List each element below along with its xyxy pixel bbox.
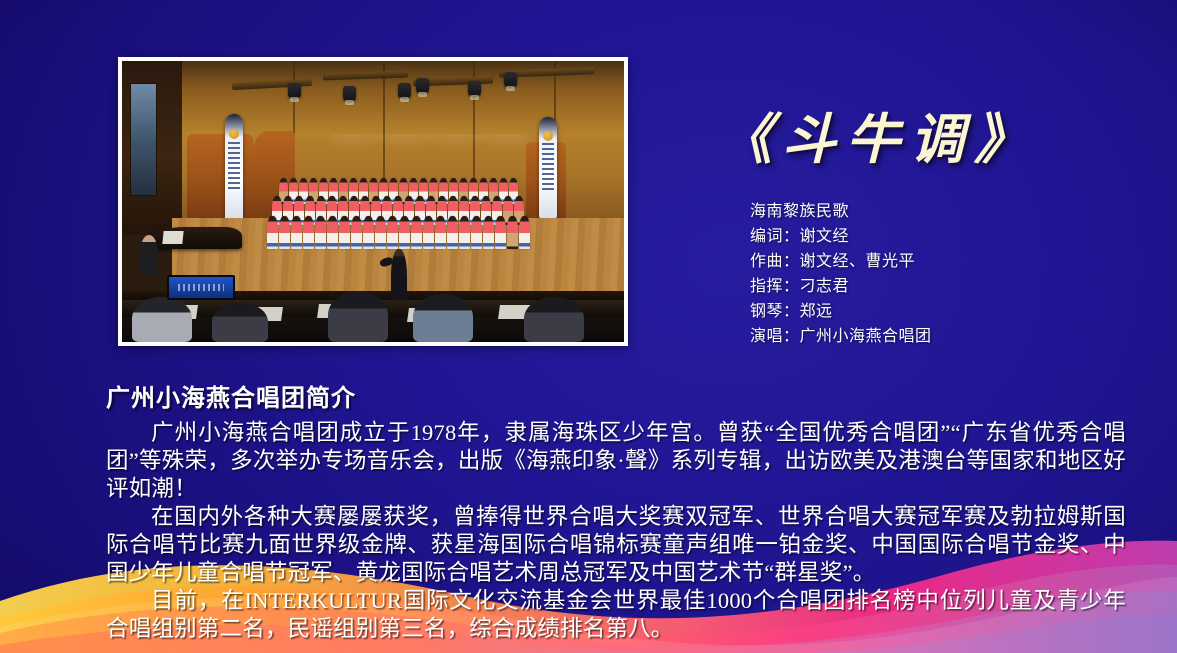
stage-spotlight-icon (343, 86, 356, 102)
credit-lyricist: 编词：谢文经 (750, 224, 1138, 249)
stage-spotlight-icon (398, 83, 411, 99)
intro-paragraph-3: 目前，在INTERKULTUR国际文化交流基金会世界最佳1000个合唱团排名榜中… (106, 587, 1126, 643)
pianist (140, 235, 158, 274)
song-title: 《斗牛调》 (718, 112, 1138, 169)
intro-paragraph-2: 在国内外各种大赛屡屡获奖，曾捧得世界合唱大奖赛双冠军、世界合唱大赛冠军赛及勃拉姆… (106, 503, 1126, 587)
credit-pianist: 钢琴：郑远 (750, 299, 1138, 324)
stage-spotlight-icon (468, 81, 481, 97)
jury-member (524, 297, 584, 342)
music-stand-light (162, 231, 183, 244)
stage-spotlight-icon (288, 83, 301, 99)
jury-member (413, 294, 473, 342)
camera-monitor (167, 275, 235, 300)
choir-row-front (222, 216, 573, 249)
stage-spotlight-icon (504, 72, 517, 88)
grand-piano (147, 227, 242, 249)
jury-member (132, 297, 192, 342)
presentation-slide: 《斗牛调》 海南黎族民歌 编词：谢文经 作曲：谢文经、曹光平 指挥：刁志君 钢琴… (0, 0, 1177, 653)
credit-performer: 演唱：广州小海燕合唱团 (750, 324, 1138, 349)
performance-photo (118, 57, 628, 346)
credit-genre: 海南黎族民歌 (750, 199, 1138, 224)
intro-heading: 广州小海燕合唱团简介 (106, 378, 1126, 413)
photo-image (122, 61, 624, 342)
choir-introduction: 广州小海燕合唱团简介 广州小海燕合唱团成立于1978年，隶属海珠区少年宫。曾获“… (106, 378, 1126, 643)
intro-paragraph-1: 广州小海燕合唱团成立于1978年，隶属海珠区少年宫。曾获“全国优秀合唱团”“广东… (106, 419, 1126, 503)
jury-member (328, 291, 388, 342)
jury-member (212, 303, 267, 342)
credit-conductor: 指挥：刁志君 (750, 274, 1138, 299)
credit-composer: 作曲：谢文经、曹光平 (750, 249, 1138, 274)
title-block: 《斗牛调》 海南黎族民歌 编词：谢文经 作曲：谢文经、曹光平 指挥：刁志君 钢琴… (718, 112, 1138, 349)
stage-spotlight-icon (416, 78, 429, 94)
hall-window (130, 83, 158, 195)
credits-list: 海南黎族民歌 编词：谢文经 作曲：谢文经、曹光平 指挥：刁志君 钢琴：郑远 演唱… (750, 199, 1138, 349)
